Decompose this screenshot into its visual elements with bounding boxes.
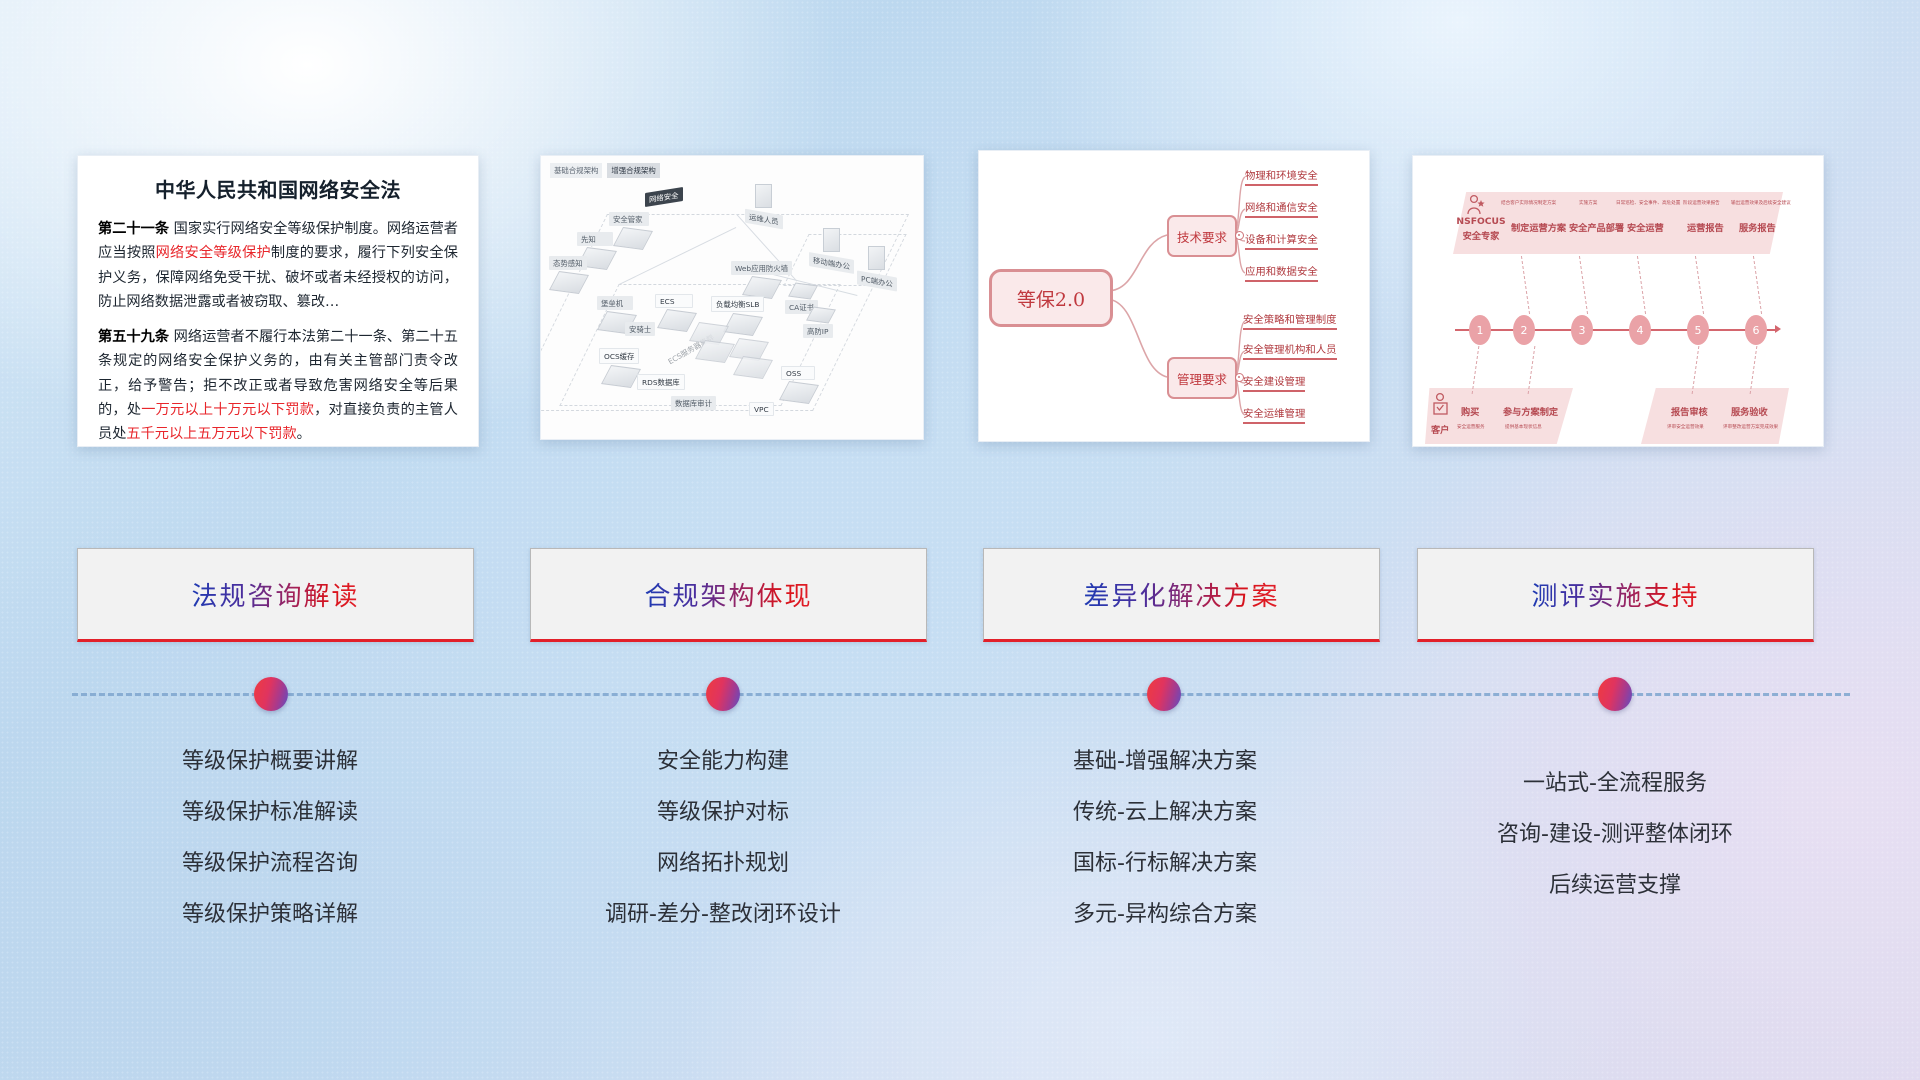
screenshot-card-row: 中华人民共和国网络安全法 第二十一条 国家实行网络安全等级保护制度。网络运营者应… [0, 0, 1920, 460]
card-mindmap[interactable]: 等保2.0 技术要求 物理和环境安全 网络和通信安全 设备和计算安全 应用和数据… [978, 150, 1370, 442]
mindmap-leaf-org-personnel: 安全管理机构和人员 [1243, 341, 1337, 360]
arch-node-xianzhi-label: 先知 [577, 232, 613, 246]
list-item: 后续运营支撑 [1405, 860, 1825, 911]
list-item: 咨询-建设-测评整体闭环 [1405, 809, 1825, 860]
connector-b2 [1528, 346, 1536, 394]
list-item: 调研-差分-整改闭环设计 [513, 889, 933, 940]
section-label-box-2[interactable]: 合规架构体现 [530, 548, 927, 642]
arch-node-ops-staff-label: 运维人员 [745, 208, 783, 229]
mindmap-leaf-physical-env: 物理和环境安全 [1245, 167, 1318, 186]
mindmap-leaf-ops-mgmt: 安全运维管理 [1243, 405, 1305, 424]
mindmap-leaf-construction-mgmt: 安全建设管理 [1243, 373, 1305, 392]
arch-node-pc-office-label: PC端办公 [857, 270, 897, 291]
list-item: 等级保护概要讲解 [60, 736, 480, 787]
top-step-4-title: 运营报告 [1687, 220, 1724, 234]
card-nsfocus-timeline[interactable]: NSFOCUS 安全专家 结合客户实际情况制定方案 制定运营方案 实施方案 安全… [1412, 155, 1824, 447]
list-item: 多元-异构综合方案 [955, 889, 1375, 940]
connector-2 [1521, 256, 1530, 314]
connector-6 [1753, 256, 1762, 314]
arch-node-rds-label: RDS数据库 [637, 374, 685, 390]
mindmap-leaf-device-compute: 设备和计算安全 [1245, 231, 1318, 250]
bottom-step-2-sub: 提供基本现状信息 [1505, 424, 1542, 430]
nsfocus-axis-line [1455, 329, 1775, 331]
arch-node-security-butler-label: 安全管家 [609, 212, 649, 226]
arch-node-oss: OSS [781, 366, 815, 402]
law-article-59: 第五十九条 网络运营者不履行本法第二十一条、第二十五条规定的网络安全保护义务的，… [98, 325, 458, 447]
arch-node-network-security-label: 网络安全 [645, 187, 683, 207]
list-item: 安全能力构建 [513, 736, 933, 787]
arch-node-rds: RDS数据库 [637, 374, 685, 390]
list-item: 等级保护策略详解 [60, 889, 480, 940]
detail-column-2: 安全能力构建 等级保护对标 网络拓扑规划 调研-差分-整改闭环设计 [513, 736, 933, 940]
card-architecture-diagram[interactable]: 基础合规架构 增强合规架构 网络安全 安全管家 [540, 155, 924, 440]
arch-tab-basic[interactable]: 基础合规架构 [550, 163, 602, 178]
bottom-step-3-sub: 评审安全运营效果 [1667, 424, 1704, 430]
mindmap-canvas: 等保2.0 技术要求 物理和环境安全 网络和通信安全 设备和计算安全 应用和数据… [979, 151, 1369, 441]
expert-label-line1: NSFOCUS [1453, 216, 1509, 227]
section-label-box-4[interactable]: 测评实施支持 [1417, 548, 1814, 642]
section-label-1: 法规咨询解读 [191, 576, 359, 613]
arch-node-mobile-office: 移动端办公 [809, 228, 854, 270]
arch-node-vpc: VPC [749, 402, 774, 416]
list-item: 传统-云上解决方案 [955, 787, 1375, 838]
arch-node-pc-office: PC端办公 [857, 246, 897, 288]
timeline-node-1[interactable] [254, 677, 288, 711]
article-59-highlight-1: 一万元以上十万元以下罚款 [141, 402, 314, 418]
timeline [0, 693, 1920, 695]
mindmap-root[interactable]: 等保2.0 [989, 269, 1113, 327]
list-item: 等级保护标准解读 [60, 787, 480, 838]
top-step-3-sub: 日常巡检、安全事件、高危处置 [1616, 200, 1680, 206]
article-59-highlight-2: 五千元以上五万元以下罚款 [126, 426, 296, 442]
top-step-2-title: 安全产品部署 [1569, 220, 1624, 234]
expert-person-icon [1465, 194, 1487, 216]
arch-node-anqishi-label: 安骑士 [625, 322, 655, 336]
arch-node-ecs: ECS [655, 294, 693, 330]
article-21-highlight: 网络安全等级保护 [156, 245, 271, 261]
list-item: 等级保护对标 [513, 787, 933, 838]
customer-person-icon [1431, 392, 1451, 418]
arch-node-network-security: 网络安全 [645, 190, 683, 204]
section-label-box-1[interactable]: 法规咨询解读 [77, 548, 474, 642]
arch-node-waf: Web应用防火墙 [731, 261, 792, 297]
arch-node-ocs-cache-label: OCS缓存 [599, 348, 639, 364]
law-title: 中华人民共和国网络安全法 [98, 174, 458, 203]
section-label-box-3[interactable]: 差异化解决方案 [983, 548, 1380, 642]
arch-node-db-audit-label: 数据库审计 [671, 396, 716, 410]
article-59-label: 第五十九条 [98, 329, 169, 345]
section-label-2: 合规架构体现 [644, 576, 812, 613]
mindmap-leaf-policy-system: 安全策略和管理制度 [1243, 311, 1337, 330]
top-step-5-sub: 输出运营效果及后续安全建议 [1731, 200, 1791, 206]
arch-node-waf-label: Web应用防火墙 [731, 261, 792, 275]
list-item: 等级保护流程咨询 [60, 838, 480, 889]
arch-node-anti-ddos-ip-label: 高防IP [803, 324, 833, 338]
connector-5 [1695, 256, 1704, 314]
timeline-node-4[interactable] [1598, 677, 1632, 711]
arch-tab-enhanced[interactable]: 增强合规架构 [607, 163, 659, 178]
nsfocus-marker-3[interactable]: 3 [1571, 315, 1593, 345]
bottom-step-1-sub: 安全运营服务 [1457, 424, 1485, 430]
arch-node-security-butler: 安全管家 [609, 212, 649, 248]
nsfocus-marker-2[interactable]: 2 [1513, 315, 1535, 345]
mindmap-branch-technical[interactable]: 技术要求 [1167, 215, 1237, 257]
arch-node-ecs-label: ECS [655, 294, 693, 308]
top-step-2-sub: 实施方案 [1579, 200, 1597, 206]
arch-node-bastion-host-label: 堡垒机 [597, 296, 633, 310]
nsfocus-axis-arrow-icon [1775, 325, 1781, 333]
top-step-3-title: 安全运营 [1627, 220, 1664, 234]
law-article-21: 第二十一条 国家实行网络安全等级保护制度。网络运营者应当按照网络安全等级保护制度… [98, 217, 458, 315]
connector-b4 [1750, 346, 1758, 394]
article-21-label: 第二十一条 [98, 221, 169, 237]
arch-node-vpc-label: VPC [749, 402, 774, 416]
bottom-step-3-title: 报告审核 [1671, 404, 1708, 418]
law-document: 中华人民共和国网络安全法 第二十一条 国家实行网络安全等级保护制度。网络运营者应… [78, 156, 478, 447]
bottom-step-2-title: 参与方案制定 [1503, 404, 1558, 418]
expert-label-line2: 安全专家 [1453, 228, 1509, 242]
list-item: 一站式-全流程服务 [1405, 758, 1825, 809]
list-item: 国标-行标解决方案 [955, 838, 1375, 889]
customer-label: 客户 [1431, 422, 1449, 436]
detail-column-4: 一站式-全流程服务 咨询-建设-测评整体闭环 后续运营支撑 [1405, 758, 1825, 911]
mindmap-leaf-network-comm: 网络和通信安全 [1245, 199, 1318, 218]
bottom-step-4-sub: 评审整改运营方案完成效果 [1723, 424, 1778, 430]
connector-4 [1637, 256, 1646, 314]
arch-node-slb-label: 负载均衡SLB [711, 296, 764, 312]
detail-column-1: 等级保护概要讲解 等级保护标准解读 等级保护流程咨询 等级保护策略详解 [60, 736, 480, 940]
timeline-node-2[interactable] [706, 677, 740, 711]
arch-node-anti-ddos-ip: 高防IP [803, 308, 833, 338]
timeline-node-3[interactable] [1147, 677, 1181, 711]
list-item: 基础-增强解决方案 [955, 736, 1375, 787]
connector-b1 [1472, 346, 1480, 394]
arch-node-situation-awareness-label: 态势感知 [549, 256, 587, 270]
detail-column-3: 基础-增强解决方案 传统-云上解决方案 国标-行标解决方案 多元-异构综合方案 [955, 736, 1375, 940]
bottom-step-4-title: 服务验收 [1731, 404, 1768, 418]
top-step-1-sub: 结合客户实际情况制定方案 [1501, 200, 1556, 206]
top-step-5-title: 服务报告 [1739, 220, 1776, 234]
arch-node-ops-staff: 运维人员 [745, 184, 783, 226]
top-step-1-title: 制定运营方案 [1511, 220, 1566, 234]
architecture-canvas: 基础合规架构 增强合规架构 网络安全 安全管家 [541, 156, 923, 439]
nsfocus-marker-5[interactable]: 5 [1687, 315, 1709, 345]
section-label-4: 测评实施支持 [1531, 576, 1699, 613]
connector-b3 [1692, 346, 1700, 394]
nsfocus-marker-4[interactable]: 4 [1629, 315, 1651, 345]
nsfocus-marker-1[interactable]: 1 [1469, 315, 1491, 345]
arch-node-oss-label: OSS [781, 366, 815, 380]
section-label-3: 差异化解决方案 [1083, 576, 1279, 613]
mindmap-branch-management[interactable]: 管理要求 [1167, 357, 1237, 399]
card-law-text[interactable]: 中华人民共和国网络安全法 第二十一条 国家实行网络安全等级保护制度。网络运营者应… [77, 155, 479, 447]
arch-node-anqishi: 安骑士 [625, 322, 655, 336]
bottom-step-1-title: 购买 [1461, 404, 1479, 418]
nsfocus-canvas: NSFOCUS 安全专家 结合客户实际情况制定方案 制定运营方案 实施方案 安全… [1413, 156, 1823, 446]
mindmap-collapse-dot-technical[interactable] [1235, 231, 1244, 240]
top-step-4-sub: 阶段运营效果报告 [1683, 200, 1720, 206]
article-59-part3: 。 [297, 426, 311, 442]
arch-node-situation-awareness: 态势感知 [549, 256, 587, 292]
arch-node-ocs-cache: OCS缓存 [599, 348, 639, 386]
list-item: 网络拓扑规划 [513, 838, 933, 889]
arch-node-db-audit: 数据库审计 [671, 396, 716, 410]
nsfocus-marker-6[interactable]: 6 [1745, 315, 1767, 345]
mindmap-leaf-app-data: 应用和数据安全 [1245, 263, 1318, 282]
timeline-dashed-rule [72, 693, 1850, 696]
architecture-tabs: 基础合规架构 增强合规架构 [550, 163, 660, 178]
connector-3 [1579, 256, 1588, 314]
